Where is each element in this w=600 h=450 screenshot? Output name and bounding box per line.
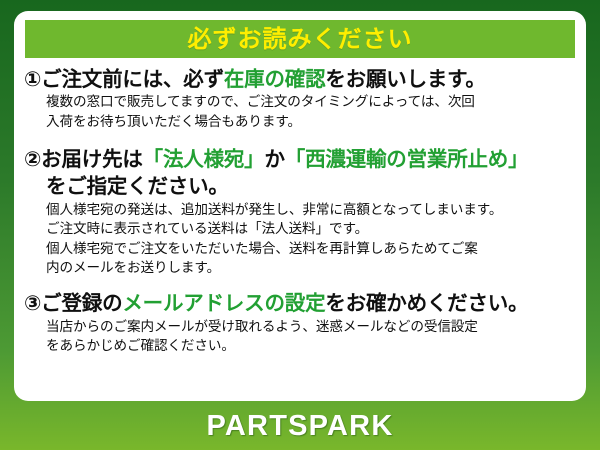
notice-item-3-number: ③ <box>24 291 41 315</box>
notice-items-list: ①ご注文前には、必ず在庫の確認をお願いします。 複数の窓口で販売してますので、ご… <box>24 66 580 360</box>
notice-item-1-sub-line-1: 複数の窓口で販売してますので、ご注文のタイミングによっては、次回 <box>24 93 580 112</box>
notice-item-1-sub-line-2: 入荷をお待ち頂いただく場合もあります。 <box>24 113 580 132</box>
notice-item-2-sub-line-1: 個人様宅宛の発送は、追加送料が発生し、非常に高額となってしまいます。 <box>24 201 580 220</box>
notice-item-1-number: ① <box>24 67 41 91</box>
notice-item-3-head-highlight: メールアドレスの設定 <box>122 291 325 315</box>
notice-item-3-head-part-3: をお確かめください。 <box>325 291 528 315</box>
spacer-2 <box>24 281 580 290</box>
notice-item-1-head-highlight: 在庫の確認 <box>224 67 326 91</box>
notice-item-1: ①ご注文前には、必ず在庫の確認をお願いします。 複数の窓口で販売してますので、ご… <box>24 66 580 132</box>
notice-item-2-heading: ②お届け先は「法人様宛」か「西濃運輸の営業所止め」 <box>24 146 580 173</box>
notice-item-2-sub-line-4: 内のメールをお送りします。 <box>24 259 580 278</box>
notice-item-2: ②お届け先は「法人様宛」か「西濃運輸の営業所止め」 をご指定ください。 個人様宅… <box>24 146 580 278</box>
notice-item-3-sub-line-2: をあらかじめご確認ください。 <box>24 337 580 356</box>
notice-item-1-heading: ①ご注文前には、必ず在庫の確認をお願いします。 <box>24 66 580 93</box>
notice-item-3-sub-line-1: 当店からのご案内メールが受け取れるよう、迷惑メールなどの受信設定 <box>24 318 580 337</box>
notice-item-2-head-highlight-2: 「西濃運輸の営業所止め」 <box>285 147 529 171</box>
notice-item-2-number: ② <box>24 147 41 171</box>
notice-title: 必ずお読みください <box>188 27 413 51</box>
notice-item-2-head-part-3: か <box>264 147 284 171</box>
spacer-1 <box>24 135 580 146</box>
notice-item-2-heading-line-2: をご指定ください。 <box>24 173 580 200</box>
notice-item-3-head-part-1: ご登録の <box>41 291 122 315</box>
partspark-logo: PARTSPARK <box>207 410 394 443</box>
notice-item-3: ③ご登録のメールアドレスの設定をお確かめください。 当店からのご案内メールが受け… <box>24 290 580 356</box>
notice-item-3-heading: ③ご登録のメールアドレスの設定をお確かめください。 <box>24 290 580 317</box>
notice-item-1-head-part-3: をお願いします。 <box>325 67 485 91</box>
notice-item-2-head-part-1: お届け先は <box>41 147 143 171</box>
notice-banner: 必ずお読みください ①ご注文前には、必ず在庫の確認をお願いします。 複数の窓口で… <box>0 0 600 450</box>
notice-item-1-head-part-1: ご注文前には、必ず <box>41 67 224 91</box>
notice-item-2-head-highlight-1: 「法人様宛」 <box>143 147 265 171</box>
notice-title-bar: 必ずお読みください <box>25 20 575 58</box>
notice-item-2-sub-line-2: ご注文時に表示されている送料は「法人送料」です。 <box>24 220 580 239</box>
notice-item-2-sub-line-3: 個人様宅宛でご注文をいただいた場合、送料を再計算しあらためてご案 <box>24 240 580 259</box>
footer-logo-bar: PARTSPARK <box>0 402 600 450</box>
